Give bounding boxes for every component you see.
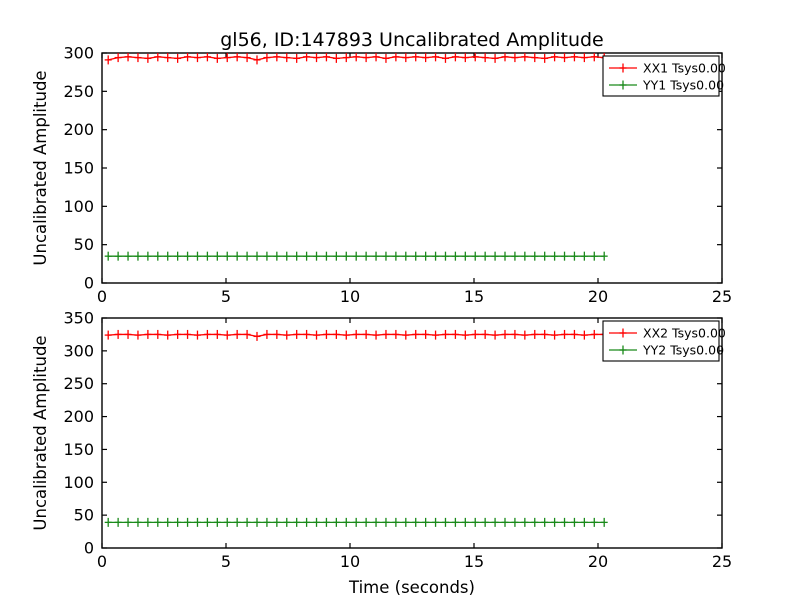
matplotlib-figure: gl56, ID:147893 Uncalibrated Amplitude 0… [0, 0, 800, 600]
x-tick-label-bottom: 25 [712, 552, 732, 571]
y-tick-label-top: 0 [84, 274, 94, 293]
x-tick-label-bottom: 15 [464, 552, 484, 571]
x-tick-label-top: 20 [588, 287, 608, 306]
y-tick-label-bottom: 200 [63, 407, 94, 426]
y-tick-label-bottom: 50 [74, 506, 94, 525]
y-tick-label-top: 50 [74, 235, 94, 254]
legend-label-xx1: XX1 Tsys0.00 [643, 61, 726, 76]
y-tick-label-bottom: 250 [63, 374, 94, 393]
y-tick-label-bottom: 150 [63, 440, 94, 459]
x-tick-label-bottom: 5 [221, 552, 231, 571]
y-tick-label-bottom: 300 [63, 341, 94, 360]
page-title: gl56, ID:147893 Uncalibrated Amplitude [220, 29, 604, 51]
x-tick-label-top: 15 [464, 287, 484, 306]
legend-label-yy2: YY2 Tsys0.00 [642, 343, 724, 358]
y-tick-label-top: 300 [63, 44, 94, 63]
y-axis-label-top: Uncalibrated Amplitude [31, 70, 50, 265]
x-tick-label-bottom: 0 [97, 552, 107, 571]
legend-label-xx2: XX2 Tsys0.00 [643, 326, 726, 341]
y-tick-label-bottom: 0 [84, 539, 94, 558]
x-tick-label-top: 25 [712, 287, 732, 306]
x-tick-label-bottom: 10 [340, 552, 360, 571]
y-tick-label-bottom: 100 [63, 473, 94, 492]
y-tick-label-top: 100 [63, 197, 94, 216]
y-tick-label-top: 200 [63, 120, 94, 139]
y-tick-label-bottom: 350 [63, 309, 94, 328]
y-tick-label-top: 250 [63, 82, 94, 101]
x-tick-label-top: 5 [221, 287, 231, 306]
x-tick-label-top: 0 [97, 287, 107, 306]
x-tick-label-bottom: 20 [588, 552, 608, 571]
y-tick-label-top: 150 [63, 159, 94, 178]
legend-label-yy1: YY1 Tsys0.00 [642, 78, 724, 93]
x-axis-label-bottom: Time (seconds) [348, 578, 475, 597]
x-tick-label-top: 10 [340, 287, 360, 306]
y-axis-label-bottom: Uncalibrated Amplitude [31, 335, 50, 530]
